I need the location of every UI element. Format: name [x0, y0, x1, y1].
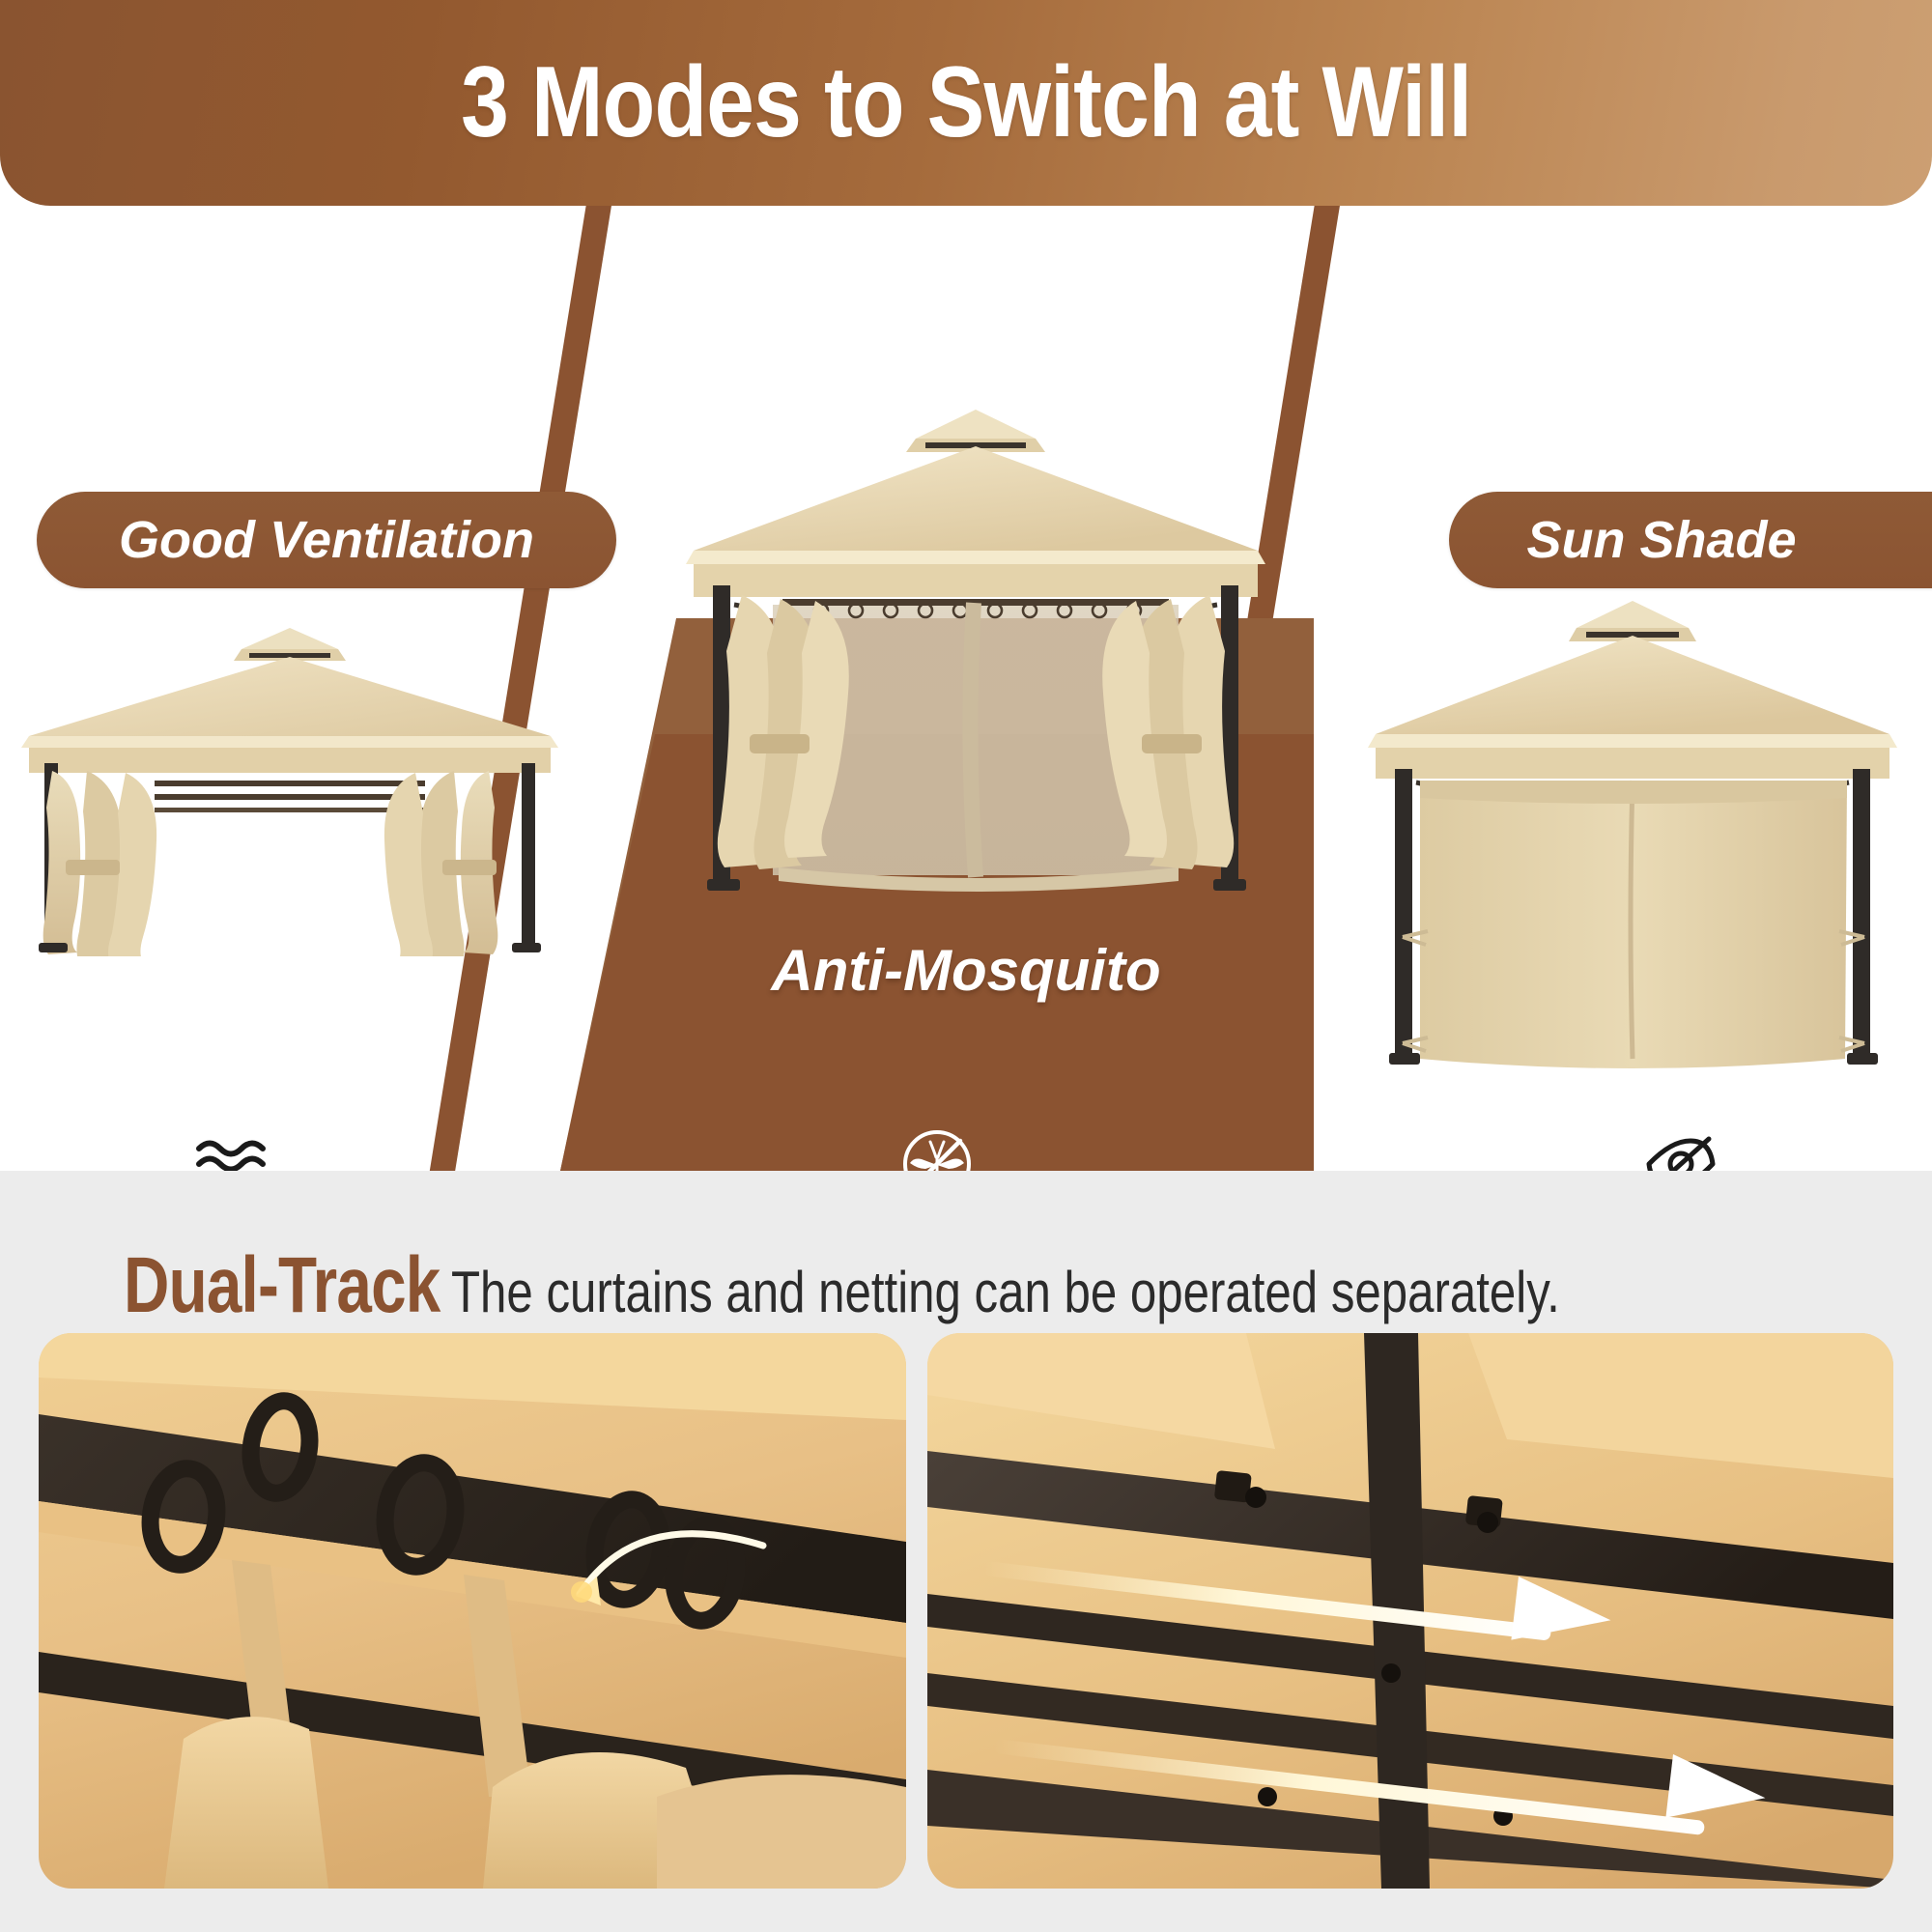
photo-curtain-rings-on-track: [39, 1333, 906, 1889]
mode-title-anti-mosquito: Anti-Mosquito: [589, 937, 1343, 1004]
page-title: 3 Modes to Switch at Will: [461, 45, 1471, 160]
mode-pill-ventilation[interactable]: Good Ventilation: [37, 492, 616, 588]
eye-off-icon: [1639, 1125, 1722, 1171]
modes-panel-area: Good Ventilation Sun Shade Anti-Mosquito…: [0, 174, 1932, 1171]
dual-track-subtitle: The curtains and netting can be operated…: [451, 1259, 1560, 1325]
photo-dual-track-rails: [927, 1333, 1893, 1889]
mode-pill-sun-shade-label: Sun Shade: [1526, 510, 1796, 570]
dual-track-title: Dual-Track: [124, 1240, 440, 1331]
header-banner: 3 Modes to Switch at Will: [0, 0, 1932, 206]
air-waves-icon: [191, 1125, 272, 1171]
feature-anti-mosquito: Block disturbing bugs: [724, 1125, 1150, 1171]
gazebo-image-sun-shade: [1352, 589, 1913, 1092]
gazebo-image-ventilation: [10, 618, 570, 956]
mode-pill-ventilation-label: Good Ventilation: [119, 510, 534, 570]
feature-privacy: Protect your privacy: [1468, 1125, 1893, 1171]
feature-ventilation: Enjoy outdoor view: [19, 1125, 444, 1171]
mode-pill-sun-shade[interactable]: Sun Shade: [1449, 492, 1932, 588]
mosquito-blocked-icon: [895, 1125, 979, 1171]
gazebo-image-anti-mosquito: [667, 396, 1285, 937]
dual-track-heading: Dual-Track The curtains and netting can …: [124, 1240, 1804, 1331]
